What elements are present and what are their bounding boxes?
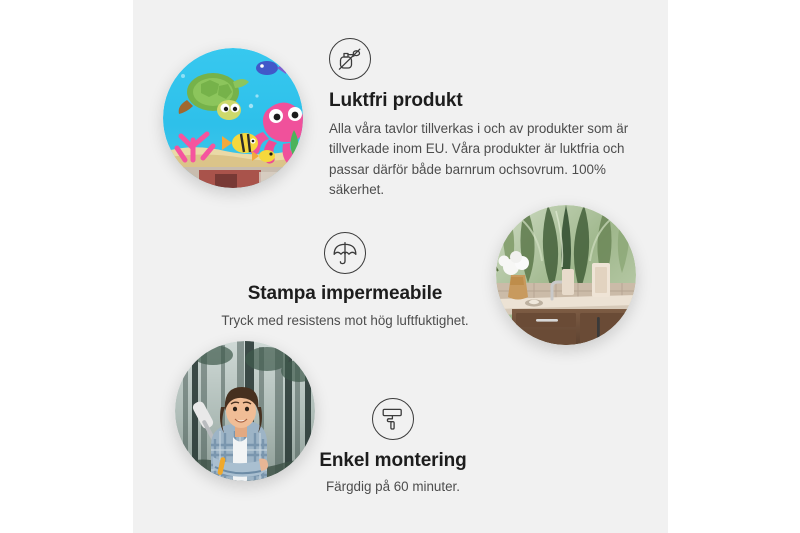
feature-odourless: Luktfri produkt Alla våra tavlor tillver…: [329, 38, 629, 200]
no-fragrance-icon: [329, 38, 371, 80]
paint-roller-icon: [372, 398, 414, 440]
feature-description: Alla våra tavlor tillverkas i och av pro…: [329, 119, 629, 201]
feature-description: Färgdig på 60 minuter.: [268, 477, 518, 497]
feature-description: Tryck med resistens mot hög luftfuktighe…: [195, 311, 495, 331]
feature-title: Enkel montering: [268, 449, 518, 473]
feature-infographic: Luktfri produkt Alla våra tavlor tillver…: [0, 0, 800, 533]
photo-underwater: [163, 48, 303, 188]
feature-mounting: Enkel montering Färgdig på 60 minuter.: [268, 398, 518, 497]
umbrella-icon: [324, 232, 366, 274]
feature-title: Luktfri produkt: [329, 89, 629, 113]
photo-bathroom: [496, 205, 636, 345]
feature-waterproof: Stampa impermeabile Tryck med resistens …: [195, 232, 495, 331]
feature-title: Stampa impermeabile: [195, 282, 495, 306]
